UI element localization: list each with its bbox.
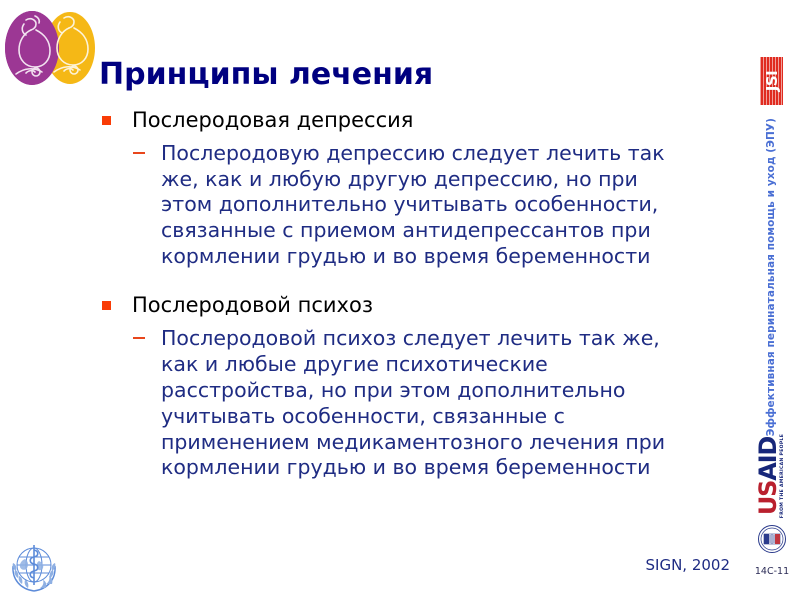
who-logo-icon (6, 541, 62, 595)
program-vertical-title: Эффективная перинатальная помощь и уход … (765, 118, 777, 436)
bullet-text: Послеродовая депрессия (132, 108, 413, 132)
usaid-logo-icon: USAID FROM THE AMERICAN PEOPLE (748, 424, 794, 528)
list-item: Послеродовой психоз (99, 293, 679, 319)
list-item: Послеродовая депрессия (99, 108, 679, 134)
usaid-logo-inner: USAID FROM THE AMERICAN PEOPLE (756, 434, 786, 518)
page-title: Принципы лечения (99, 58, 699, 91)
slide-canvas: Принципы лечения Послеродовая депрессия … (0, 0, 800, 600)
government-seal-icon (757, 524, 787, 554)
section-spacer (99, 276, 679, 293)
bullet-text: Послеродовую депрессию следует лечить та… (161, 141, 665, 269)
usaid-logo-label: USAID (756, 434, 780, 518)
list-item: Послеродовой психоз следует лечить так ж… (99, 326, 679, 482)
slide-number: 14C-11 (752, 566, 792, 577)
right-rail: JSI Эффективная перинатальная помощь и у… (742, 0, 800, 600)
usaid-tagline: FROM THE AMERICAN PEOPLE (781, 434, 786, 518)
square-bullet-marker-icon (102, 116, 111, 125)
jsi-logo-icon: JSI (760, 57, 783, 105)
jsi-logo-label: JSI (763, 71, 781, 91)
maternal-health-logo (2, 2, 98, 94)
bullet-text: Послеродовой психоз следует лечить так ж… (161, 326, 665, 480)
dash-bullet-marker-icon (133, 337, 145, 339)
source-citation: SIGN, 2002 (560, 556, 730, 574)
slide-content: Послеродовая депрессия Послеродовую депр… (99, 108, 679, 487)
list-item: Послеродовую депрессию следует лечить та… (99, 141, 679, 271)
square-bullet-marker-icon (102, 301, 111, 310)
bullet-text: Послеродовой психоз (132, 293, 373, 317)
dash-bullet-marker-icon (133, 152, 145, 154)
